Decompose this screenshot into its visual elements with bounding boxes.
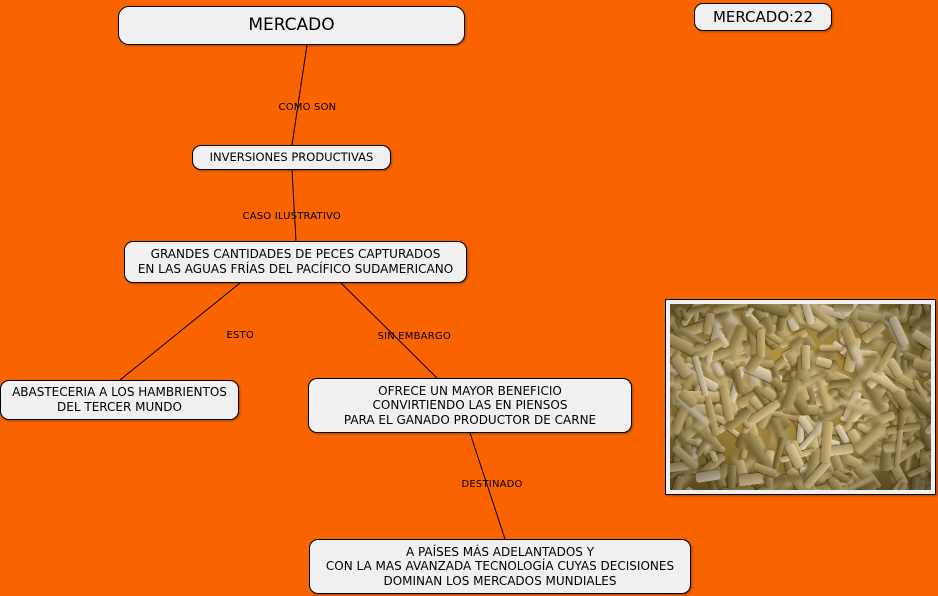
- link-label-sin-embargo: SIN EMBARGO: [364, 320, 451, 353]
- link-label-como-son: COMO SON: [265, 91, 336, 124]
- node-mayor-beneficio[interactable]: OFRECE UN MAYOR BENEFICIO CONVIRTIENDO L…: [308, 378, 632, 433]
- node-inversiones-productivas-label: INVERSIONES PRODUCTIVAS: [210, 150, 374, 164]
- concept-map-canvas: MERCADO:22 MERCADO INVERSIONES PRODUCTIV…: [0, 0, 938, 596]
- link-label-esto-text: ESTO: [227, 330, 254, 341]
- link-label-caso-ilustrativo: CASO ILUSTRATIVO: [229, 200, 341, 233]
- node-abasteceria-hambrientos-label: ABASTECERIA A LOS HAMBRIENTOS DEL TERCER…: [12, 385, 227, 414]
- status-badge-label: MERCADO:22: [713, 8, 813, 26]
- photo-image: [670, 304, 931, 490]
- node-paises-adelantados[interactable]: A PAÍSES MÁS ADELANTADOS Y CON LA MAS AV…: [309, 539, 691, 594]
- status-badge: MERCADO:22: [694, 3, 832, 31]
- node-peces-capturados-label: GRANDES CANTIDADES DE PECES CAPTURADOS E…: [138, 247, 453, 276]
- node-peces-capturados[interactable]: GRANDES CANTIDADES DE PECES CAPTURADOS E…: [124, 241, 467, 283]
- link-label-destinado-text: DESTINADO: [462, 479, 523, 490]
- node-paises-adelantados-label: A PAÍSES MÁS ADELANTADOS Y CON LA MAS AV…: [326, 545, 674, 589]
- node-mercado[interactable]: MERCADO: [118, 6, 465, 45]
- link-label-esto: ESTO: [213, 319, 254, 352]
- node-mayor-beneficio-label: OFRECE UN MAYOR BENEFICIO CONVIRTIENDO L…: [344, 384, 596, 428]
- node-abasteceria-hambrientos[interactable]: ABASTECERIA A LOS HAMBRIENTOS DEL TERCER…: [0, 380, 239, 420]
- link-label-destinado: DESTINADO: [448, 468, 523, 501]
- connector-lines: [0, 0, 938, 596]
- node-mercado-label: MERCADO: [248, 15, 334, 36]
- link-label-caso-ilustrativo-text: CASO ILUSTRATIVO: [243, 211, 341, 222]
- node-inversiones-productivas[interactable]: INVERSIONES PRODUCTIVAS: [192, 145, 391, 170]
- link-label-como-son-text: COMO SON: [279, 102, 337, 113]
- animal-feed-pellets-photo[interactable]: [665, 299, 936, 495]
- link-label-sin-embargo-text: SIN EMBARGO: [378, 331, 451, 342]
